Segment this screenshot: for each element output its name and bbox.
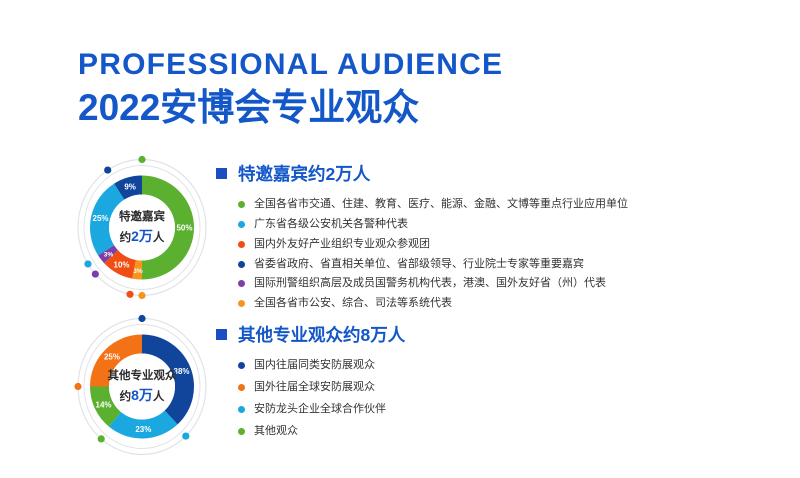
ring-marker-dot-icon (104, 166, 111, 173)
legend-item-label: 全国各省市公安、综合、司法等系统代表 (254, 296, 452, 311)
legend-item-label: 安防龙头企业全球合作伙伴 (254, 402, 386, 417)
ring-marker-dot-icon (84, 260, 91, 267)
legend-dot-icon (238, 201, 245, 208)
legend-dot-icon (238, 241, 245, 248)
legend-dot-icon (238, 300, 245, 307)
ring-marker-dot-icon (138, 156, 145, 163)
legend-item: 全国各省市公安、综合、司法等系统代表 (238, 296, 628, 311)
legend-invited-guests: 特邀嘉宾约2万人 全国各省市交通、住建、教育、医疗、能源、金融、文博等重点行业应… (216, 161, 628, 316)
legend-dot-icon (238, 362, 245, 369)
legend-item-label: 广东省各级公安机关各警种代表 (254, 217, 408, 232)
legend-heading: 其他专业观众约8万人 (216, 322, 405, 347)
donut-chart-invited-guests: 50%3%10%3%25%9% 特邀嘉宾 约2万人 (62, 155, 222, 300)
ring-marker-dot-icon (182, 432, 189, 439)
donut-segment-label: 10% (114, 261, 130, 270)
legend-heading-text: 其他专业观众约8万人 (238, 322, 405, 347)
legend-item: 国内往届同类安防展观众 (238, 358, 405, 373)
legend-item-label: 其他观众 (254, 424, 298, 439)
legend-item-label: 省委省政府、省直相关单位、省部级领导、行业院士专家等重要嘉宾 (254, 257, 584, 272)
donut-segment-label: 3% (133, 268, 143, 275)
legend-item-label: 国外往届全球安防展观众 (254, 380, 375, 395)
legend-dot-icon (238, 280, 245, 287)
legend-list: 全国各省市交通、住建、教育、医疗、能源、金融、文博等重点行业应用单位广东省各级公… (238, 197, 628, 311)
donut-segment-label: 25% (93, 214, 109, 223)
legend-other-audience: 其他专业观众约8万人 国内往届同类安防展观众国外往届全球安防展观众安防龙头企业全… (216, 322, 405, 445)
legend-item: 全国各省市交通、住建、教育、医疗、能源、金融、文博等重点行业应用单位 (238, 197, 628, 212)
legend-dot-icon (238, 428, 245, 435)
bullet-square-icon (216, 329, 227, 340)
donut-segment-label: 25% (104, 352, 120, 361)
legend-heading: 特邀嘉宾约2万人 (216, 161, 628, 186)
ring-marker-dot-icon (74, 383, 81, 390)
ring-marker-dot-icon (92, 270, 99, 277)
legend-item: 安防龙头企业全球合作伙伴 (238, 402, 405, 417)
donut-segment-label: 3% (104, 252, 114, 259)
donut-segment-label: 23% (135, 425, 151, 434)
legend-heading-text: 特邀嘉宾约2万人 (238, 161, 370, 186)
legend-dot-icon (238, 406, 245, 413)
title-chinese: 2022安博会专业观众 (78, 89, 503, 128)
legend-item-label: 国内往届同类安防展观众 (254, 358, 375, 373)
legend-list: 国内往届同类安防展观众国外往届全球安防展观众安防龙头企业全球合作伙伴其他观众 (238, 358, 405, 438)
legend-dot-icon (238, 261, 245, 268)
legend-item: 国内外友好产业组织专业观众参观团 (238, 237, 628, 252)
legend-dot-icon (238, 384, 245, 391)
slide-root: PROFESSIONAL AUDIENCE 2022安博会专业观众 50%3%1… (0, 0, 800, 478)
donut-chart-other-audience: 38%23%14%25% 其他专业观众 约8万人 (62, 314, 222, 459)
donut-segment-label: 50% (176, 224, 192, 233)
donut-chart-svg: 50%3%10%3%25%9% (62, 155, 222, 300)
title-english: PROFESSIONAL AUDIENCE (78, 50, 503, 80)
bullet-square-icon (216, 168, 227, 179)
legend-item-label: 全国各省市交通、住建、教育、医疗、能源、金融、文博等重点行业应用单位 (254, 197, 628, 212)
legend-item: 国外往届全球安防展观众 (238, 380, 405, 395)
donut-segment-label: 14% (96, 401, 112, 410)
ring-marker-dot-icon (138, 315, 145, 322)
ring-marker-dot-icon (126, 291, 133, 298)
legend-item: 其他观众 (238, 424, 405, 439)
legend-dot-icon (238, 221, 245, 228)
legend-item-label: 国际刑警组织高层及成员国警务机构代表，港澳、国外友好省（州）代表 (254, 276, 606, 291)
donut-chart-svg: 38%23%14%25% (62, 314, 222, 459)
ring-marker-dot-icon (98, 435, 105, 442)
legend-item: 省委省政府、省直相关单位、省部级领导、行业院士专家等重要嘉宾 (238, 257, 628, 272)
donut-segment-label: 38% (174, 367, 190, 376)
legend-item-label: 国内外友好产业组织专业观众参观团 (254, 237, 430, 252)
legend-item: 广东省各级公安机关各警种代表 (238, 217, 628, 232)
donut-segment-label: 9% (124, 183, 136, 192)
page-title: PROFESSIONAL AUDIENCE 2022安博会专业观众 (78, 50, 503, 128)
legend-item: 国际刑警组织高层及成员国警务机构代表，港澳、国外友好省（州）代表 (238, 276, 628, 291)
ring-marker-dot-icon (138, 292, 145, 299)
